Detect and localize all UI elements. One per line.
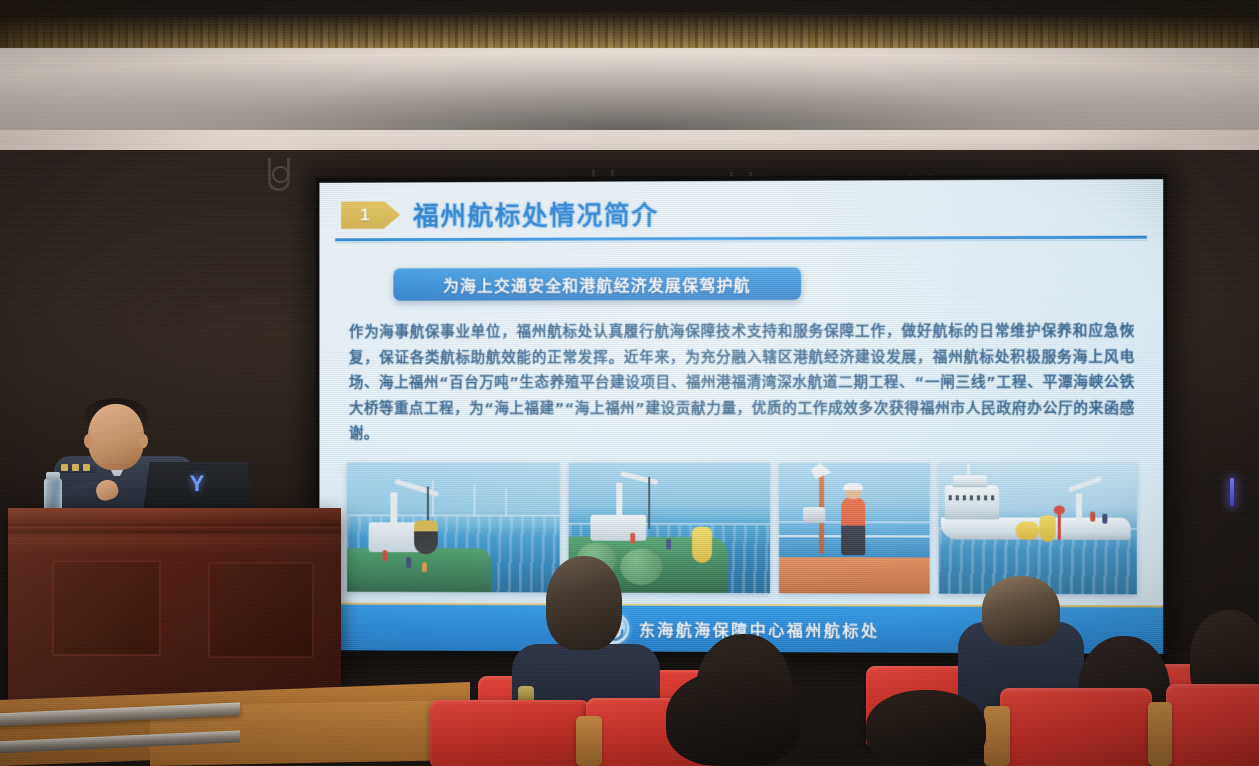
seat-front-far-right[interactable]: [1166, 684, 1259, 766]
crane-mast-1: [390, 493, 397, 527]
deck-orange-3: [779, 557, 930, 594]
buoy-tender-hull-1: [347, 548, 491, 592]
crew-member-6: [1090, 512, 1095, 522]
section-number-badge: 1: [341, 201, 400, 229]
worker-body-3: [841, 497, 865, 555]
crane-cable-1: [427, 487, 428, 525]
crew-member-3: [422, 562, 427, 572]
slide-photo-strip: [347, 463, 1137, 595]
crane-cable-2: [649, 477, 650, 529]
lantern-housing-3: [803, 507, 825, 523]
crane-mast-2: [617, 483, 623, 517]
deckhouse-2: [591, 515, 647, 541]
slide-body-paragraph: 作为海事航保事业单位，福州航标处认真履行航海保障技术支持和服务保障工作，做好航标…: [349, 318, 1135, 446]
water-bottle-cap: [46, 472, 60, 480]
presenter-ear-left: [84, 434, 93, 448]
wall-led-indicator[interactable]: [1230, 478, 1234, 506]
photo-vessel-buoy-at-sea: [939, 463, 1137, 594]
section-number-label: 1: [360, 205, 369, 225]
laptop-logo-icon: Y: [188, 474, 206, 494]
crew-member-5: [667, 539, 672, 550]
audience-person-1-head: [546, 556, 622, 650]
audience-person-3-head: [982, 576, 1060, 646]
subtitle-banner-label: 为海上交通安全和港航经济发展保驾护航: [443, 271, 751, 296]
conference-room-scene: 1 福州航标处情况简介 为海上交通安全和港航经济发展保驾护航 作为海事航保事业单…: [0, 0, 1259, 766]
presenter-head: [88, 404, 144, 470]
armrest-front-2: [984, 706, 1010, 766]
subtitle-banner-wrap: 为海上交通安全和港航经济发展保驾护航: [393, 267, 801, 301]
wind-turbine-2: [473, 485, 475, 517]
armrest-front-3: [1148, 702, 1172, 766]
crew-member-7: [1103, 514, 1108, 524]
wind-turbine-1: [432, 481, 434, 517]
slide-header: 1 福州航标处情况简介: [341, 195, 659, 233]
photo-worker-lantern-maintenance: [779, 463, 930, 594]
vessel-superstructure-4: [945, 485, 999, 519]
armrest-front-1: [576, 716, 602, 766]
buoy-yellow-3: [1040, 516, 1056, 542]
wind-turbine-3: [505, 489, 507, 517]
presenter-ear-right: [139, 434, 148, 448]
subtitle-banner: 为海上交通安全和港航经济发展保驾护航: [393, 267, 801, 301]
buoy-dark-1: [414, 520, 438, 554]
worker-helmet-3: [843, 483, 863, 490]
photo-buoy-lifting-windfarm: [347, 463, 560, 593]
crew-member-2: [406, 557, 411, 568]
vessel-mast-4: [967, 463, 970, 476]
seat-front-right[interactable]: [1000, 688, 1152, 766]
buoy-yellow-2: [1016, 522, 1040, 540]
audience-person-7-head: [866, 690, 986, 766]
crew-member-1: [383, 550, 388, 561]
buoy-yellow-1: [693, 527, 713, 563]
seat-front-left[interactable]: [430, 700, 590, 766]
audience-person-6-head: [666, 670, 800, 766]
ceiling-fixture-dome: [272, 166, 289, 183]
presenter-epaulette-left: [56, 462, 96, 473]
vessel-windows-4: [949, 495, 995, 500]
slide-title: 福州航标处情况简介: [413, 195, 659, 233]
soffit-shadow: [0, 40, 1259, 130]
stern-crane-mast-4: [1076, 493, 1082, 519]
crew-member-4: [631, 533, 636, 544]
vessel-bridge-4: [953, 475, 987, 487]
